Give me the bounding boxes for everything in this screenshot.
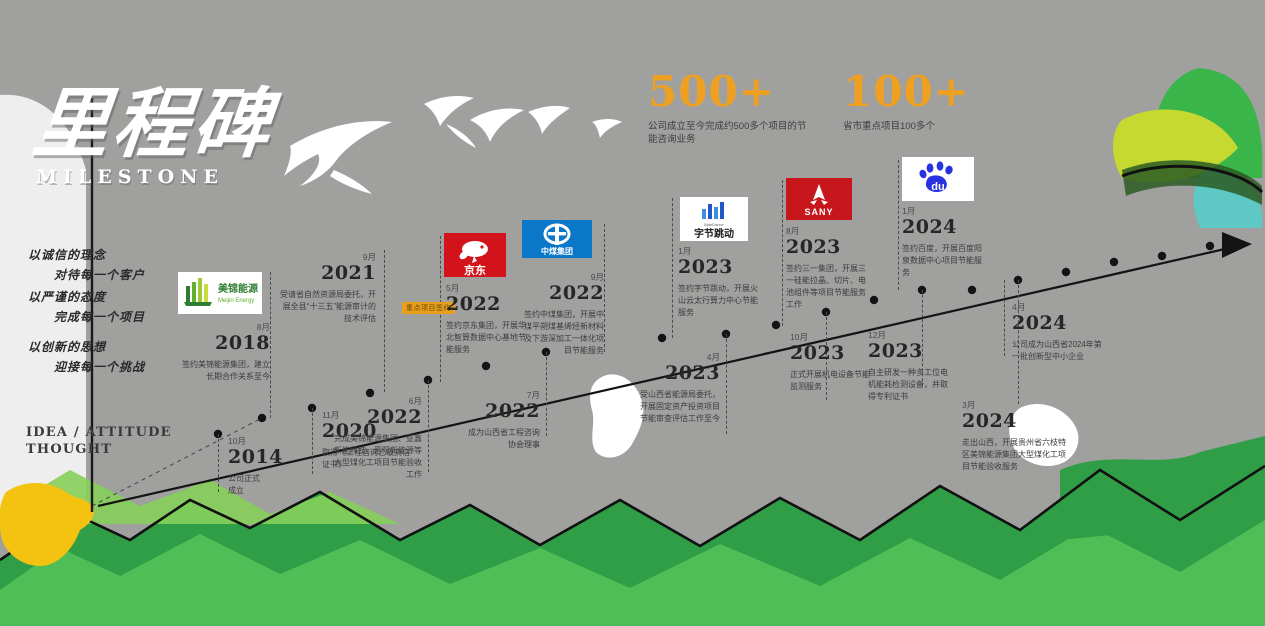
page-subtitle: MILESTONE bbox=[36, 166, 224, 188]
china-map-detail bbox=[22, 504, 68, 540]
timeline-entry-2023-12[interactable]: 12月 2023 自主研发一种多工位电机能耗检测设备，并取得专利证书 bbox=[868, 330, 954, 403]
mountain-right bbox=[1060, 436, 1265, 540]
entry-desc-2022-06: 完成美锦能源集团、亚鑫新能科技、晋阳新能源等大型煤化工项目节能验收工作 bbox=[332, 433, 422, 481]
entry-year-2022-07: 2022 bbox=[462, 400, 540, 422]
entry-year-2023-04: 2023 bbox=[634, 362, 720, 384]
milestone-poster: 里程碑 MILESTONE 以诚信的理念 对待每一个客户 以严谨的态度 完成每一… bbox=[0, 0, 1265, 626]
jd-com-logo-icon: 京东 bbox=[444, 233, 506, 277]
svg-text:Meijin Energy: Meijin Energy bbox=[218, 298, 254, 304]
timeline-entry-2023-01[interactable]: 1月 2023 签约字节跳动，开展火山云太行算力中心节能服务 bbox=[678, 246, 760, 319]
stat-500-desc: 公司成立至今完成约500多个项目的节能咨询业务 bbox=[648, 120, 808, 146]
tick-2024-04 bbox=[1004, 280, 1005, 356]
stat-100-desc: 省市重点项目100多个 bbox=[843, 120, 970, 133]
bird-small-3-icon bbox=[528, 106, 570, 134]
leaf-lime bbox=[1113, 109, 1238, 182]
stat-100-plus: 100+ 省市重点项目100多个 bbox=[843, 70, 970, 133]
entry-year-2023-08: 2023 bbox=[786, 236, 870, 258]
tick-2021-09 bbox=[384, 250, 385, 392]
entry-month-2023-04: 4月 bbox=[634, 352, 720, 362]
entry-desc-2023-04: 受山西省能源局委托，开展固定资产投资项目节能审查评估工作至今 bbox=[634, 389, 720, 425]
entry-month-2014-10: 10月 bbox=[228, 436, 314, 446]
entry-month-2018-08: 8月 bbox=[182, 322, 270, 332]
slogan-3-line1: 以创新的思想 bbox=[28, 340, 106, 354]
timeline-entry-2023-10[interactable]: 10月 2023 正式开展机电设备节能监测服务 bbox=[790, 332, 872, 393]
bird-small-1-icon bbox=[424, 96, 474, 126]
entry-year-2024-01: 2024 bbox=[902, 216, 984, 238]
tick-2024-01 bbox=[898, 160, 899, 290]
slogan-3: 以创新的思想 迎接每一个挑战 bbox=[28, 338, 145, 375]
logo-baidu[interactable]: du bbox=[902, 157, 974, 201]
svg-text:美锦能源: 美锦能源 bbox=[218, 282, 258, 295]
entry-year-2024-04: 2024 bbox=[1012, 312, 1104, 334]
bytedance-logo-icon: ByteDance 字节跳动 bbox=[680, 197, 748, 241]
timeline-entry-2024-04[interactable]: 4月 2024 公司成为山西省2024年第一批创新型中小企业 bbox=[1012, 302, 1104, 363]
stat-500-number: 500+ bbox=[648, 70, 808, 114]
tick-2022-06 bbox=[428, 380, 429, 472]
mountain-back bbox=[0, 466, 1265, 626]
entry-month-2023-10: 10月 bbox=[790, 332, 872, 342]
slogan-1: 以诚信的理念 对待每一个客户 bbox=[28, 246, 145, 283]
svg-text:SANY: SANY bbox=[804, 207, 833, 217]
logo-zhongmei-group[interactable]: 中煤集团 bbox=[522, 220, 592, 258]
entry-desc-2022-07: 成为山西省工程咨询协会理事 bbox=[462, 427, 540, 451]
entry-desc-2014-10: 公司正式 成立 bbox=[228, 473, 314, 497]
entry-year-2024-03: 2024 bbox=[962, 410, 1072, 432]
timeline-entry-2024-03[interactable]: 3月 2024 走出山西，开展贵州省六枝特区美锦能源集团大型煤化工项目节能验收服… bbox=[962, 400, 1072, 473]
leaf-green bbox=[1150, 68, 1262, 178]
entry-year-2021-09: 2021 bbox=[276, 262, 376, 284]
entry-desc-2024-01: 签约百度，开展百度阳泉数据中心项目节能服务 bbox=[902, 243, 984, 279]
entry-desc-2023-12: 自主研发一种多工位电机能耗检测设备，并取得专利证书 bbox=[868, 367, 954, 403]
entry-month-2023-01: 1月 bbox=[678, 246, 760, 256]
leaf-teal bbox=[1194, 170, 1263, 228]
leaf-shadow bbox=[1122, 160, 1262, 205]
entry-year-2022-09: 2022 bbox=[518, 282, 604, 304]
page-title: 里程碑 bbox=[28, 62, 280, 172]
tick-2020-11 bbox=[312, 408, 313, 474]
entry-desc-2021-09: 受请省自然资源局委托，开展全县“十三五”能源审计的技术评估 bbox=[276, 289, 376, 325]
entry-month-2022-09: 9月 bbox=[518, 272, 604, 282]
logo-bytedance[interactable]: ByteDance 字节跳动 bbox=[680, 197, 748, 241]
tick-2023-01 bbox=[672, 198, 673, 338]
logo-meijin-energy[interactable]: 美锦能源 Meijin Energy bbox=[178, 272, 262, 314]
slogan-2: 以严谨的态度 完成每一个项目 bbox=[28, 288, 145, 325]
timeline-entry-2014-10[interactable]: 10月 2014 公司正式 成立 bbox=[228, 436, 314, 497]
stat-500-plus: 500+ 公司成立至今完成约500多个项目的节能咨询业务 bbox=[648, 70, 808, 146]
idea-line-1: IDEA / ATTITUDE bbox=[26, 424, 172, 441]
bird-small-2-icon bbox=[470, 108, 524, 142]
china-map-yellow bbox=[0, 483, 94, 566]
logo-jd-com[interactable]: 京东 bbox=[444, 233, 506, 277]
timeline-entry-2018-08[interactable]: 8月 2018 签约美锦能源集团，建立长期合作关系至今 bbox=[182, 322, 270, 383]
bird-small-4-icon bbox=[592, 119, 622, 138]
entry-month-2022-07: 7月 bbox=[462, 390, 540, 400]
bird-flock bbox=[284, 96, 622, 194]
entry-month-2023-12: 12月 bbox=[868, 330, 954, 340]
svg-text:ByteDance: ByteDance bbox=[704, 222, 724, 227]
entry-year-2014-10: 2014 bbox=[228, 446, 314, 468]
entry-month-2024-01: 1月 bbox=[902, 206, 984, 216]
entry-desc-2023-01: 签约字节跳动，开展火山云太行算力中心节能服务 bbox=[678, 283, 760, 319]
slogan-2-line2: 完成每一个项目 bbox=[28, 308, 145, 325]
tick-2023-04 bbox=[726, 334, 727, 434]
tick-2022-07 bbox=[546, 352, 547, 436]
entry-month-2024-03: 3月 bbox=[962, 400, 1072, 410]
timeline-entry-2024-01[interactable]: 1月 2024 签约百度，开展百度阳泉数据中心项目节能服务 bbox=[902, 206, 984, 279]
slogan-3-line2: 迎接每一个挑战 bbox=[28, 358, 145, 375]
leaf-outline bbox=[1122, 166, 1262, 192]
entry-month-2024-04: 4月 bbox=[1012, 302, 1104, 312]
entry-month-2023-08: 8月 bbox=[786, 226, 870, 236]
entry-desc-2024-04: 公司成为山西省2024年第一批创新型中小企业 bbox=[1012, 339, 1104, 363]
logo-sany[interactable]: SANY bbox=[786, 178, 852, 220]
entry-year-2018-08: 2018 bbox=[182, 332, 270, 354]
tick-2014-10 bbox=[218, 434, 219, 492]
entry-desc-2023-08: 签约三一集团，开展三一硅能拉晶、切片、电池组件等项目节能服务工作 bbox=[786, 263, 870, 311]
mountain-outline bbox=[0, 466, 1265, 560]
entry-desc-2022-09: 签约中煤集团，开展中煤平朔煤基烯烃新材料及下游深加工一体化项目节能服务 bbox=[518, 309, 604, 357]
zhongmei-group-logo-icon: 中煤集团 bbox=[522, 220, 592, 258]
timeline-entry-2023-08[interactable]: 8月 2023 签约三一集团，开展三一硅能拉晶、切片、电池组件等项目节能服务工作 bbox=[786, 226, 870, 311]
slogan-1-line1: 以诚信的理念 bbox=[28, 248, 106, 262]
entry-desc-2023-10: 正式开展机电设备节能监测服务 bbox=[790, 369, 872, 393]
svg-text:du: du bbox=[931, 181, 944, 193]
entry-desc-2018-08: 签约美锦能源集团，建立长期合作关系至今 bbox=[182, 359, 270, 383]
entry-month-2021-09: 9月 bbox=[276, 252, 376, 262]
entry-year-2023-12: 2023 bbox=[868, 340, 954, 362]
meijin-energy-logo-icon: 美锦能源 Meijin Energy bbox=[178, 272, 262, 314]
slogan-2-line1: 以严谨的态度 bbox=[28, 290, 106, 304]
idea-attitude-thought: IDEA / ATTITUDE THOUGHT bbox=[26, 424, 172, 458]
entry-year-2022-06: 2022 bbox=[332, 406, 422, 428]
baidu-logo-icon: du bbox=[902, 157, 974, 201]
tick-2018-08 bbox=[270, 272, 271, 418]
timeline-entry-2022-06[interactable]: 6月 2022 完成美锦能源集团、亚鑫新能科技、晋阳新能源等大型煤化工项目节能验… bbox=[332, 396, 422, 481]
timeline-entry-2022-09[interactable]: 9月 2022 签约中煤集团，开展中煤平朔煤基烯烃新材料及下游深加工一体化项目节… bbox=[518, 272, 604, 357]
entry-year-2023-10: 2023 bbox=[790, 342, 872, 364]
bird-large-icon bbox=[284, 121, 392, 186]
entry-desc-2024-03: 走出山西，开展贵州省六枝特区美锦能源集团大型煤化工项目节能验收服务 bbox=[962, 437, 1072, 473]
sany-logo-icon: SANY bbox=[786, 178, 852, 220]
idea-line-2: THOUGHT bbox=[26, 441, 172, 458]
bird-large-wing-icon bbox=[330, 170, 372, 194]
svg-text:京东: 京东 bbox=[464, 263, 486, 277]
timeline-entry-2021-09[interactable]: 9月 2021 受请省自然资源局委托，开展全县“十三五”能源审计的技术评估 bbox=[276, 252, 376, 325]
timeline-entry-2022-07[interactable]: 7月 2022 成为山西省工程咨询协会理事 bbox=[462, 390, 540, 451]
mountain-mid bbox=[0, 520, 1265, 626]
stat-100-number: 100+ bbox=[843, 70, 970, 114]
svg-text:中煤集团: 中煤集团 bbox=[541, 246, 573, 256]
tick-2023-08 bbox=[782, 180, 783, 326]
timeline-arrow-icon bbox=[1222, 232, 1252, 258]
bird-small-1-wing-icon bbox=[446, 124, 476, 148]
entry-year-2023-01: 2023 bbox=[678, 256, 760, 278]
entry-month-2022-06: 6月 bbox=[332, 396, 422, 406]
slogan-1-line2: 对待每一个客户 bbox=[28, 266, 145, 283]
tick-2022-09 bbox=[604, 224, 605, 352]
svg-text:字节跳动: 字节跳动 bbox=[694, 227, 734, 240]
timeline-entry-2023-04[interactable]: 4月 2023 受山西省能源局委托，开展固定资产投资项目节能审查评估工作至今 bbox=[634, 352, 720, 425]
